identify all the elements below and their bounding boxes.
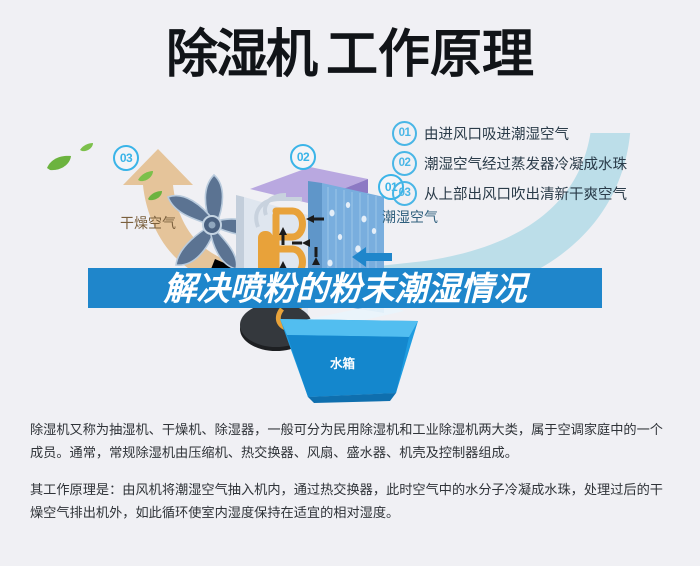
paragraph-2: 其工作原理是：由风机将潮湿空气抽入机内，通过热交换器，此时空气中的水分子冷凝成水… bbox=[30, 478, 675, 524]
page-title: 除湿机工作原理 bbox=[0, 26, 700, 84]
step-number: 02 bbox=[392, 151, 417, 176]
moist-air-label: 潮湿空气 bbox=[382, 207, 438, 227]
page-title-part2: 工作原理 bbox=[326, 26, 534, 84]
step-number: 03 bbox=[392, 181, 417, 206]
air-inflow-arrow-icon bbox=[352, 247, 392, 267]
dry-air-label: 干燥空气 bbox=[120, 213, 176, 233]
page-title-part1: 除湿机 bbox=[166, 26, 316, 84]
leaf-icon bbox=[46, 155, 72, 171]
water-tank-label: 水箱 bbox=[330, 353, 355, 372]
infographic-page: 除湿机工作原理 bbox=[0, 0, 700, 566]
step-list: 01 由进风口吸进潮湿空气 02 潮湿空气经过蒸发器冷凝成水珠 03 从上部出风… bbox=[392, 118, 692, 208]
list-item: 02 潮湿空气经过蒸发器冷凝成水珠 bbox=[392, 148, 692, 178]
step-text: 从上部出风口吹出清新干爽空气 bbox=[424, 183, 627, 204]
diagram-badge-02: 02 bbox=[290, 144, 316, 170]
paragraph-1: 除湿机又称为抽湿机、干燥机、除湿器，一般可分为民用除湿机和工业除湿机两大类，属于… bbox=[30, 418, 675, 464]
overlay-banner: 解决喷粉的粉末潮湿情况 bbox=[88, 268, 602, 308]
step-number: 01 bbox=[392, 121, 417, 146]
list-item: 01 由进风口吸进潮湿空气 bbox=[392, 118, 692, 148]
body-copy: 除湿机又称为抽湿机、干燥机、除湿器，一般可分为民用除湿机和工业除湿机两大类，属于… bbox=[30, 418, 675, 524]
diagram-badge-03: 03 bbox=[113, 145, 139, 171]
step-text: 由进风口吸进潮湿空气 bbox=[424, 123, 569, 144]
overlay-banner-text: 解决喷粉的粉末潮湿情况 bbox=[164, 272, 527, 305]
leaf-icon bbox=[80, 143, 94, 152]
step-text: 潮湿空气经过蒸发器冷凝成水珠 bbox=[424, 153, 627, 174]
list-item: 03 从上部出风口吹出清新干爽空气 bbox=[392, 178, 692, 208]
